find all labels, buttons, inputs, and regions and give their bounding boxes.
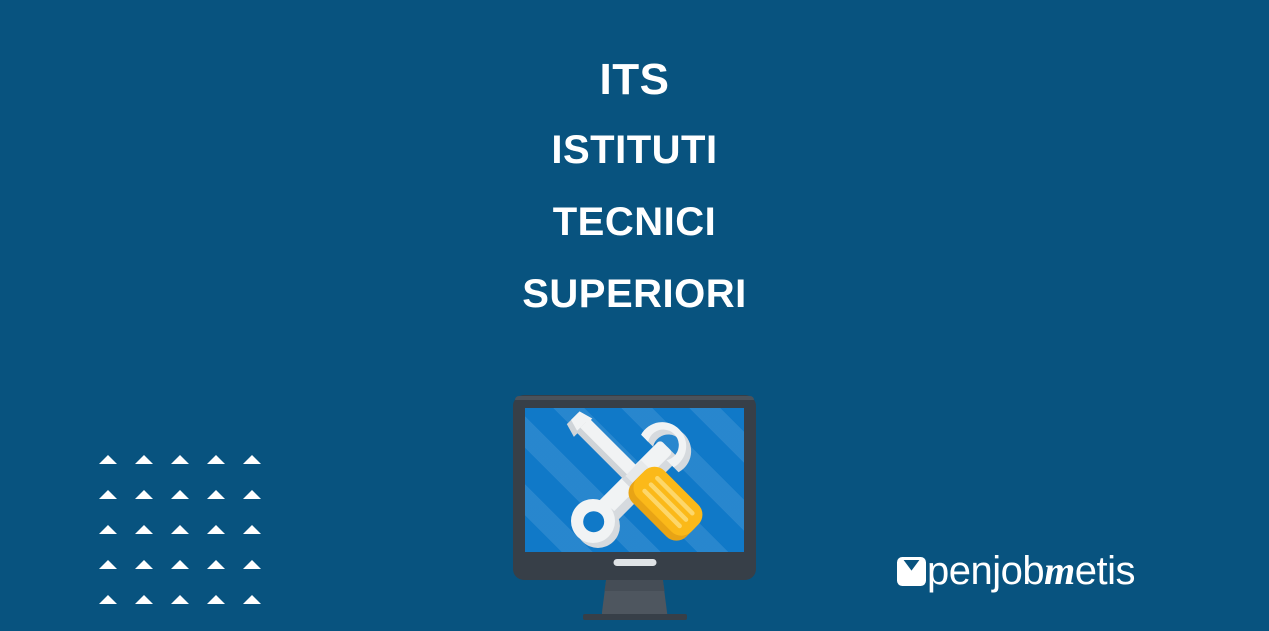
triangle-marker: [207, 525, 225, 534]
monitor-screen: [525, 408, 744, 552]
triangle-marker: [135, 525, 153, 534]
tools-graphic: [525, 408, 744, 552]
logo-text-before: penjob: [927, 549, 1044, 593]
triangle-marker: [243, 595, 261, 604]
logo-text-after: etis: [1075, 549, 1135, 593]
monitor-illustration: [513, 395, 756, 631]
triangle-marker: [243, 525, 261, 534]
triangle-marker: [99, 560, 117, 569]
openjobmetis-wordmark: penjobmetis: [927, 551, 1135, 591]
triangle-marker: [135, 595, 153, 604]
openjobmetis-logo[interactable]: penjobmetis: [897, 549, 1135, 593]
openjobmetis-mark-icon: [897, 557, 926, 586]
triangle-marker: [171, 560, 189, 569]
headline-line-1: ITS: [0, 58, 1269, 102]
triangle-marker: [207, 455, 225, 464]
triangle-marker: [99, 455, 117, 464]
triangle-marker: [171, 525, 189, 534]
triangle-marker: [207, 595, 225, 604]
monitor-frame: [513, 395, 756, 580]
triangle-marker: [135, 560, 153, 569]
triangle-marker: [207, 490, 225, 499]
headline-line-2: ISTITUTI: [0, 130, 1269, 170]
slide-root: ITS ISTITUTI TECNICI SUPERIORI: [0, 0, 1269, 631]
triangle-marker: [135, 455, 153, 464]
triangle-marker: [99, 525, 117, 534]
logo-text-emphasis: m: [1044, 548, 1075, 593]
triangle-marker: [243, 490, 261, 499]
headline-block: ITS ISTITUTI TECNICI SUPERIORI: [0, 58, 1269, 314]
triangle-marker: [243, 560, 261, 569]
triangle-marker: [207, 560, 225, 569]
triangle-marker: [171, 490, 189, 499]
triangle-marker: [171, 455, 189, 464]
monitor-stand-base: [583, 614, 687, 620]
monitor-stand-shade: [602, 580, 668, 591]
triangle-pattern: [99, 455, 259, 610]
monitor-power-button[interactable]: [613, 559, 656, 566]
triangle-marker: [99, 490, 117, 499]
triangle-marker: [99, 595, 117, 604]
triangle-marker: [171, 595, 189, 604]
triangle-marker: [243, 455, 261, 464]
headline-line-3: TECNICI: [0, 202, 1269, 242]
headline-line-4: SUPERIORI: [0, 274, 1269, 314]
triangle-marker: [135, 490, 153, 499]
